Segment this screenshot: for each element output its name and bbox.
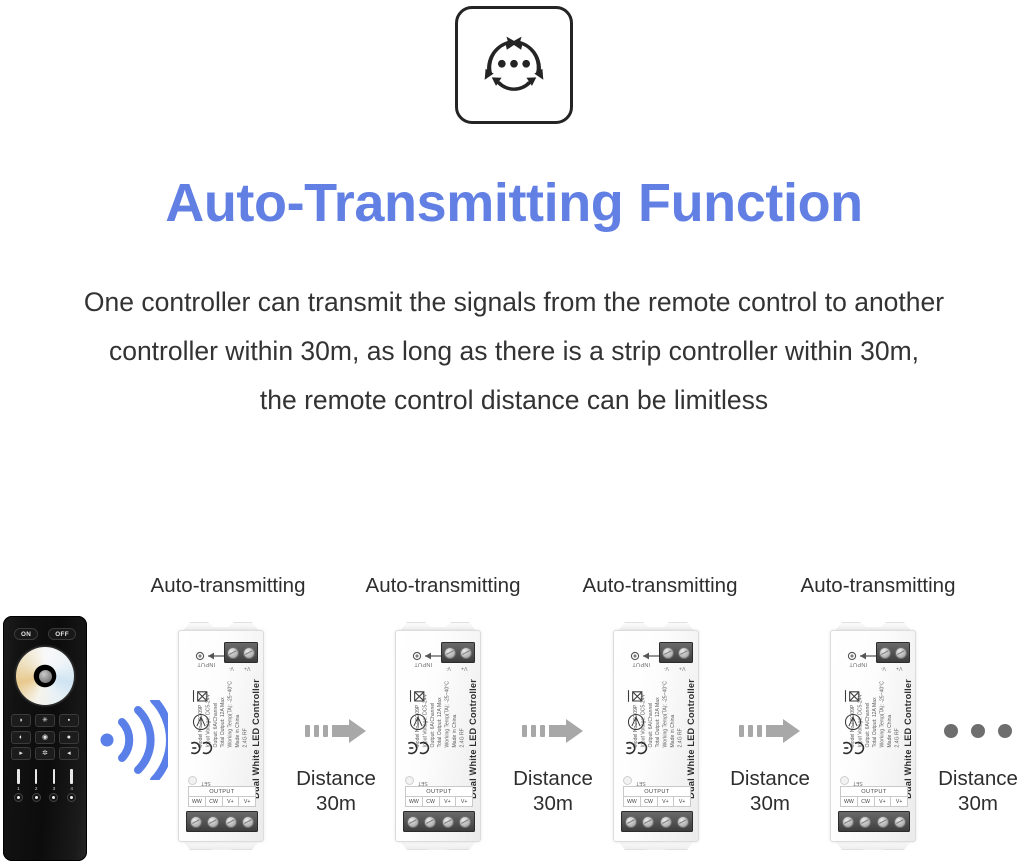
- distance-value: 30m: [505, 791, 601, 816]
- weee-crossed-bin-icon: [621, 683, 651, 709]
- auto-transmit-circular-arrows-icon: [472, 23, 556, 107]
- terminal-screw: [444, 647, 456, 659]
- remote-zone-number: 3: [47, 786, 62, 791]
- controller-input-terminal-block: [876, 642, 910, 663]
- remote-grid-button[interactable]: ▪: [59, 714, 79, 727]
- terminal-screw: [678, 647, 690, 659]
- controller-input-terminal-block: [441, 642, 475, 663]
- rohs-icon: [621, 709, 651, 735]
- terminal-label: V+: [875, 797, 892, 806]
- ellipsis-dot: [944, 724, 958, 738]
- controller-output-label: OUTPUT: [189, 787, 255, 797]
- terminal-screw: [842, 816, 854, 828]
- distance-value: 30m: [930, 791, 1026, 816]
- auto-transmit-icon-frame: [455, 6, 573, 124]
- controller-certification-marks: [838, 683, 868, 761]
- distance-step: Distance 30m: [930, 710, 1026, 816]
- controller-body: INPUT V- V+ Dual White LED Controller Mo…: [178, 630, 264, 842]
- terminal-screw: [894, 816, 906, 828]
- remote-zone-number: 4: [64, 786, 79, 791]
- auto-transmitting-label-2: Auto-transmitting: [366, 574, 521, 598]
- controller-output-terminal-block: [186, 811, 258, 832]
- controller-set-button[interactable]: [405, 776, 414, 785]
- terminal-label: WW: [841, 797, 858, 806]
- terminal-label: V-: [664, 665, 669, 671]
- remote-color-wheel[interactable]: [16, 647, 74, 705]
- remote-control[interactable]: ON OFF ◗ ✳ ▪ ◐ ◉ ● ▸ ✲ ◂ 1 2 3 4: [3, 616, 87, 861]
- terminal-label: V-: [881, 665, 886, 671]
- controller-input-terminal-block: [659, 642, 693, 663]
- remote-grid-button[interactable]: ●: [59, 731, 79, 744]
- terminal-screw: [642, 816, 654, 828]
- intro-paragraph: One controller can transmit the signals …: [24, 278, 1004, 425]
- terminal-label: V+: [440, 797, 457, 806]
- controller-output-terminal-block: [621, 811, 693, 832]
- motion-arrow-icon: [505, 710, 601, 752]
- terminal-label: V+: [244, 665, 251, 671]
- auto-transmitting-labels: Auto-transmitting Auto-transmitting Auto…: [0, 574, 1028, 602]
- terminal-screw: [407, 816, 419, 828]
- ce-mark-icon: [838, 735, 868, 761]
- remote-zone-sliders: [11, 768, 79, 785]
- controller-body: INPUT V- V+ Dual White LED Controller Mo…: [613, 630, 699, 842]
- controller-output-terminal-block: [403, 811, 475, 832]
- controller-output-legend: OUTPUT WW CW V+ V+: [188, 786, 256, 807]
- controller-input-terminal-labels: V- V+: [224, 665, 256, 671]
- terminal-screw: [677, 816, 689, 828]
- header-icon-container: [0, 0, 1028, 124]
- controller-output-label: OUTPUT: [841, 787, 907, 797]
- terminal-label: CW: [423, 797, 440, 806]
- terminal-label: V+: [896, 665, 903, 671]
- distance-label: Distance: [288, 766, 384, 791]
- controller-input-terminal-labels: V- V+: [876, 665, 908, 671]
- remote-power-row: ON OFF: [9, 628, 81, 640]
- controller-body: INPUT V- V+ Dual White LED Controller Mo…: [830, 630, 916, 842]
- terminal-screw: [227, 647, 239, 659]
- remote-grid-button[interactable]: ✲: [35, 747, 55, 760]
- terminal-screw: [242, 816, 254, 828]
- controller-body: INPUT V- V+ Dual White LED Controller Mo…: [395, 630, 481, 842]
- motion-arrow-icon: [288, 710, 384, 752]
- distance-value: 30m: [722, 791, 818, 816]
- controller-set-button[interactable]: [840, 776, 849, 785]
- distance-text: Distance 30m: [930, 766, 1026, 816]
- auto-transmit-diagram: Auto-transmitting Auto-transmitting Auto…: [0, 560, 1028, 862]
- remote-button-grid: ◗ ✳ ▪ ◐ ◉ ● ▸ ✲ ◂: [11, 714, 79, 760]
- controller-input-label: INPUT: [414, 661, 432, 667]
- wifi-signal-dot: [101, 734, 114, 747]
- terminal-screw: [207, 816, 219, 828]
- terminal-screw: [225, 816, 237, 828]
- remote-grid-button[interactable]: ◗: [11, 714, 31, 727]
- controller-output-terminal-labels: WW CW V+ V+: [841, 797, 907, 806]
- distance-label: Distance: [722, 766, 818, 791]
- controller-output-legend: OUTPUT WW CW V+ V+: [405, 786, 473, 807]
- remote-zone-numbers: 1 2 3 4: [11, 786, 79, 791]
- terminal-label: V+: [461, 665, 468, 671]
- terminal-label: V+: [239, 797, 255, 806]
- terminal-label: WW: [624, 797, 641, 806]
- controller-input-terminal-labels: V- V+: [659, 665, 691, 671]
- terminal-label: V+: [891, 797, 907, 806]
- terminal-screw: [442, 816, 454, 828]
- terminal-screw: [895, 647, 907, 659]
- ce-mark-icon: [403, 735, 433, 761]
- terminal-label: WW: [189, 797, 206, 806]
- controller-product-name: Dual White LED Controller: [903, 679, 913, 799]
- led-controller: INPUT V- V+ Dual White LED Controller Mo…: [820, 622, 926, 850]
- controller-set-button[interactable]: [188, 776, 197, 785]
- led-controller: INPUT V- V+ Dual White LED Controller Mo…: [168, 622, 274, 850]
- remote-grid-button[interactable]: ▸: [11, 747, 31, 760]
- terminal-screw: [460, 647, 472, 659]
- remote-off-button[interactable]: OFF: [48, 628, 76, 640]
- controller-product-name: Dual White LED Controller: [686, 679, 696, 799]
- remote-grid-button[interactable]: ✳: [35, 714, 55, 727]
- weee-crossed-bin-icon: [838, 683, 868, 709]
- remote-zone-slider[interactable]: [11, 768, 26, 785]
- ce-mark-icon: [186, 735, 216, 761]
- terminal-label: V+: [223, 797, 240, 806]
- controller-input-terminal-block: [224, 642, 258, 663]
- ellipsis-dot: [998, 724, 1012, 738]
- remote-zone-slider[interactable]: [64, 768, 79, 785]
- wifi-signal-waves-icon: [98, 700, 168, 780]
- ellipsis-dots-icon: [930, 710, 1026, 752]
- terminal-screw: [660, 816, 672, 828]
- distance-label: Distance: [930, 766, 1026, 791]
- controller-input-terminal-labels: V- V+: [441, 665, 473, 671]
- intro-line-3: the remote control distance can be limit…: [24, 376, 1004, 425]
- controller-output-terminal-labels: WW CW V+ V+: [624, 797, 690, 806]
- controller-product-name: Dual White LED Controller: [251, 679, 261, 799]
- controller-input-label: INPUT: [849, 661, 867, 667]
- controller-certification-marks: [621, 683, 651, 761]
- distance-step: Distance 30m: [722, 710, 818, 816]
- ellipsis-dot: [971, 724, 985, 738]
- terminal-label: CW: [206, 797, 223, 806]
- terminal-label: V+: [658, 797, 675, 806]
- terminal-label: CW: [641, 797, 658, 806]
- remote-grid-button[interactable]: ◐: [11, 731, 31, 744]
- controller-spec: 2.4G RF: [243, 681, 250, 747]
- remote-zone-number: 2: [29, 786, 44, 791]
- terminal-screw: [879, 647, 891, 659]
- controller-input-label: INPUT: [197, 661, 215, 667]
- controller-output-legend: OUTPUT WW CW V+ V+: [840, 786, 908, 807]
- distance-label: Distance: [505, 766, 601, 791]
- controller-certification-marks: [403, 683, 433, 761]
- terminal-label: CW: [858, 797, 875, 806]
- terminal-screw: [877, 816, 889, 828]
- terminal-label: V+: [456, 797, 472, 806]
- distance-step: Distance 30m: [288, 710, 384, 816]
- remote-zone-slider[interactable]: [47, 768, 62, 785]
- controller-output-terminal-labels: WW CW V+ V+: [189, 797, 255, 806]
- terminal-label: V-: [446, 665, 451, 671]
- terminal-screw: [243, 647, 255, 659]
- controller-output-label: OUTPUT: [406, 787, 472, 797]
- controller-input-label: INPUT: [632, 661, 650, 667]
- terminal-screw: [459, 816, 471, 828]
- motion-arrow-icon: [722, 710, 818, 752]
- terminal-screw: [190, 816, 202, 828]
- intro-line-2: controller within 30m, as long as there …: [24, 327, 1004, 376]
- terminal-screw: [859, 816, 871, 828]
- distance-value: 30m: [288, 791, 384, 816]
- controller-spec: 2.4G RF: [678, 681, 685, 747]
- remote-zone-slider[interactable]: [29, 768, 44, 785]
- terminal-label: V+: [674, 797, 690, 806]
- distance-text: Distance 30m: [288, 766, 384, 816]
- remote-on-button[interactable]: ON: [14, 628, 38, 640]
- terminal-screw: [424, 816, 436, 828]
- controller-certification-marks: [186, 683, 216, 761]
- remote-zone-number: 1: [11, 786, 26, 791]
- distance-step: Distance 30m: [505, 710, 601, 816]
- led-controller: INPUT V- V+ Dual White LED Controller Mo…: [385, 622, 491, 850]
- controller-output-terminal-block: [838, 811, 910, 832]
- remote-grid-button[interactable]: ◂: [59, 747, 79, 760]
- controller-spec: 2.4G RF: [895, 681, 902, 747]
- ce-mark-icon: [621, 735, 651, 761]
- remote-zone-button[interactable]: [14, 793, 23, 802]
- terminal-label: V-: [229, 665, 234, 671]
- auto-transmitting-label-1: Auto-transmitting: [151, 574, 306, 598]
- weee-crossed-bin-icon: [186, 683, 216, 709]
- controller-spec: 2.4G RF: [460, 681, 467, 747]
- terminal-label: V+: [679, 665, 686, 671]
- remote-grid-button[interactable]: ◉: [35, 731, 55, 744]
- rohs-icon: [186, 709, 216, 735]
- controller-output-terminal-labels: WW CW V+ V+: [406, 797, 472, 806]
- controller-product-name: Dual White LED Controller: [468, 679, 478, 799]
- remote-zone-button[interactable]: [67, 793, 76, 802]
- led-controller: INPUT V- V+ Dual White LED Controller Mo…: [603, 622, 709, 850]
- remote-zone-button[interactable]: [32, 793, 41, 802]
- terminal-screw: [625, 816, 637, 828]
- terminal-screw: [662, 647, 674, 659]
- rohs-icon: [838, 709, 868, 735]
- distance-text: Distance 30m: [505, 766, 601, 816]
- distance-text: Distance 30m: [722, 766, 818, 816]
- controller-set-button[interactable]: [623, 776, 632, 785]
- controller-output-legend: OUTPUT WW CW V+ V+: [623, 786, 691, 807]
- rohs-icon: [403, 709, 433, 735]
- terminal-label: WW: [406, 797, 423, 806]
- controller-output-label: OUTPUT: [624, 787, 690, 797]
- remote-wheel-knob[interactable]: [39, 670, 52, 683]
- remote-zone-button[interactable]: [49, 793, 58, 802]
- auto-transmitting-label-3: Auto-transmitting: [583, 574, 738, 598]
- intro-line-1: One controller can transmit the signals …: [24, 278, 1004, 327]
- page-title: Auto-Transmitting Function: [0, 172, 1028, 234]
- weee-crossed-bin-icon: [403, 683, 433, 709]
- remote-zone-buttons: [11, 793, 79, 802]
- auto-transmitting-label-4: Auto-transmitting: [801, 574, 956, 598]
